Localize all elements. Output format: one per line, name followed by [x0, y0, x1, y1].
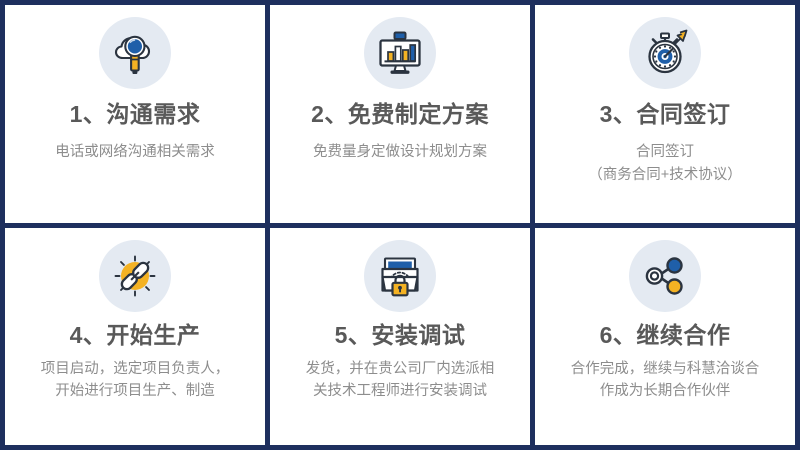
step-title: 3、合同签订 — [600, 101, 731, 127]
cloud-search-icon — [99, 17, 171, 89]
step-card-5[interactable]: 5、安装调试 发货，并在贵公司厂内选派相 关技术工程师进行安装调试 — [270, 228, 530, 446]
chain-link-icon — [99, 240, 171, 312]
stopwatch-target-icon — [629, 17, 701, 89]
step-description: 项目启动，选定项目负责人， 开始进行项目生产、制造 — [35, 358, 236, 403]
step-card-6[interactable]: 6、继续合作 合作完成，继续与科慧洽谈合 作成为长期合作伙伴 — [535, 228, 795, 446]
step-description: 合作完成，继续与科慧洽谈合 作成为长期合作伙伴 — [565, 358, 766, 403]
step-description: 合同签订 （商务合同+技术协议） — [582, 141, 747, 186]
step-card-3[interactable]: 3、合同签订 合同签订 （商务合同+技术协议） — [535, 5, 795, 223]
step-title: 6、继续合作 — [600, 322, 731, 348]
step-title: 1、沟通需求 — [70, 101, 201, 127]
step-description: 发货，并在贵公司厂内选派相 关技术工程师进行安装调试 — [300, 358, 501, 403]
step-title: 2、免费制定方案 — [311, 101, 489, 127]
step-card-1[interactable]: 1、沟通需求 电话或网络沟通相关需求 — [5, 5, 265, 223]
step-card-4[interactable]: 4、开始生产 项目启动，选定项目负责人， 开始进行项目生产、制造 — [5, 228, 265, 446]
process-steps-grid: 1、沟通需求 电话或网络沟通相关需求 2、免费 — [0, 0, 800, 450]
step-title: 4、开始生产 — [70, 322, 201, 348]
step-title: 5、安装调试 — [335, 322, 466, 348]
step-description: 免费量身定做设计规划方案 — [307, 141, 493, 163]
share-network-icon — [629, 240, 701, 312]
folder-lock-icon — [364, 240, 436, 312]
step-card-2[interactable]: 2、免费制定方案 免费量身定做设计规划方案 — [270, 5, 530, 223]
monitor-chart-icon — [364, 17, 436, 89]
step-description: 电话或网络沟通相关需求 — [49, 141, 221, 163]
